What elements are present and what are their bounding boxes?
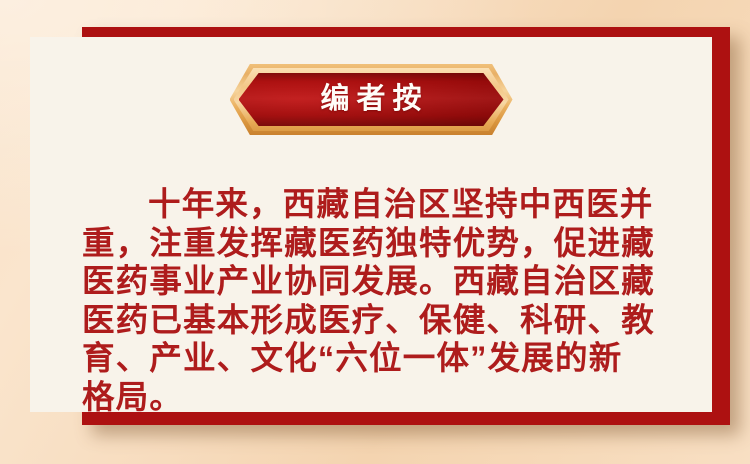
- badge-container: 编者按: [30, 64, 712, 135]
- article-body: 十年来，西藏自治区坚持中西医并 重，注重发挥藏医药独特优势，促进藏 医药事业产业…: [82, 185, 722, 416]
- article-line-5: 育、产业、文化“六位一体”发展的新: [82, 339, 722, 378]
- article-line-4: 医药已基本形成医疗、保健、科研、教: [82, 301, 722, 340]
- badge-label: 编者按: [313, 64, 428, 135]
- article-line-6: 格局。: [82, 378, 722, 417]
- editor-note-badge: 编者按: [230, 64, 513, 135]
- article-line-3: 医药事业产业协同发展。西藏自治区藏: [82, 262, 722, 301]
- cream-content-panel: 编者按 十年来，西藏自治区坚持中西医并 重，注重发挥藏医药独特优势，促进藏 医药…: [30, 37, 712, 412]
- article-line-2: 重，注重发挥藏医药独特优势，促进藏: [82, 224, 722, 263]
- article-line-1: 十年来，西藏自治区坚持中西医并: [82, 185, 722, 224]
- editorial-note-card: 编者按 十年来，西藏自治区坚持中西医并 重，注重发挥藏医药独特优势，促进藏 医药…: [0, 0, 750, 464]
